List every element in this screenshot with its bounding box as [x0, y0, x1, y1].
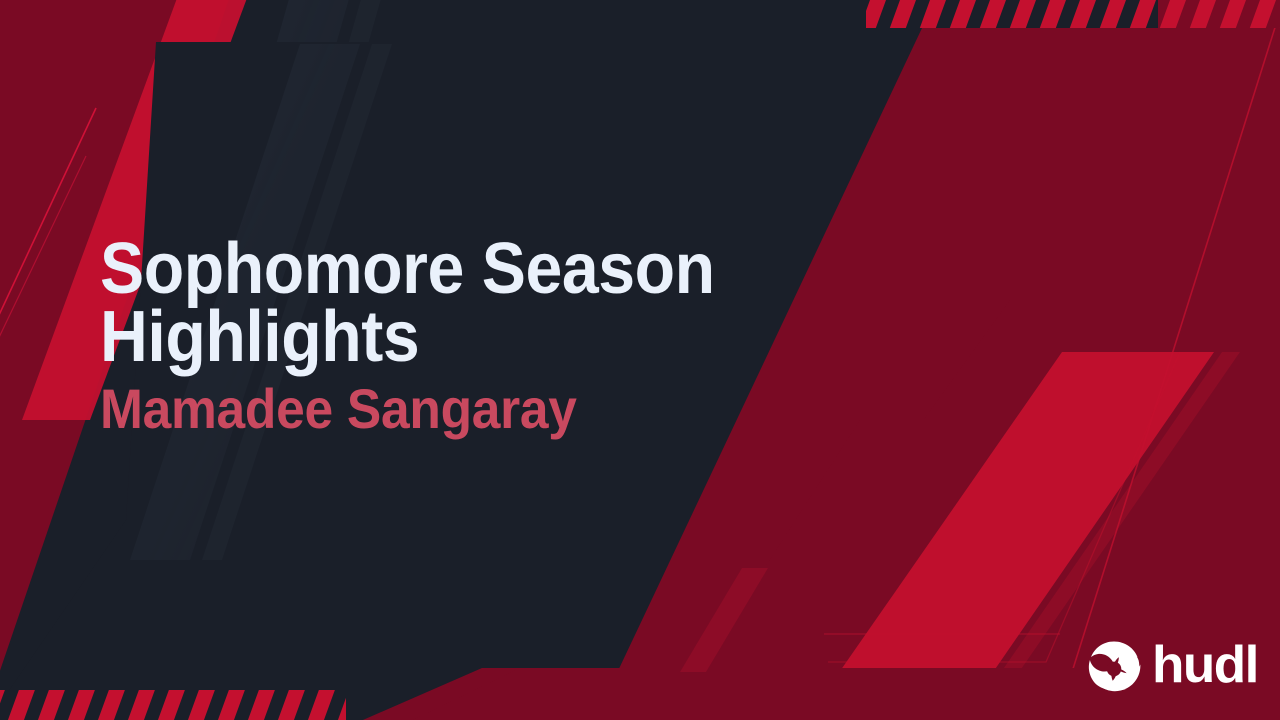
hudl-swirl-icon — [1086, 637, 1142, 693]
title-line-1: Sophomore Season — [100, 236, 799, 304]
hudl-brand-lockup: hudl — [1086, 634, 1256, 696]
hudl-wordmark: hudl — [1152, 639, 1258, 691]
bottom-left-hazard-stripes — [0, 690, 346, 720]
title-line-2: Highlights — [100, 304, 799, 372]
title-block: Sophomore Season Highlights Mamadee Sang… — [100, 236, 860, 437]
top-right-hazard-stripes — [866, 0, 1280, 28]
athlete-name: Mamadee Sangaray — [100, 381, 799, 437]
title-card: Sophomore Season Highlights Mamadee Sang… — [0, 0, 1280, 720]
